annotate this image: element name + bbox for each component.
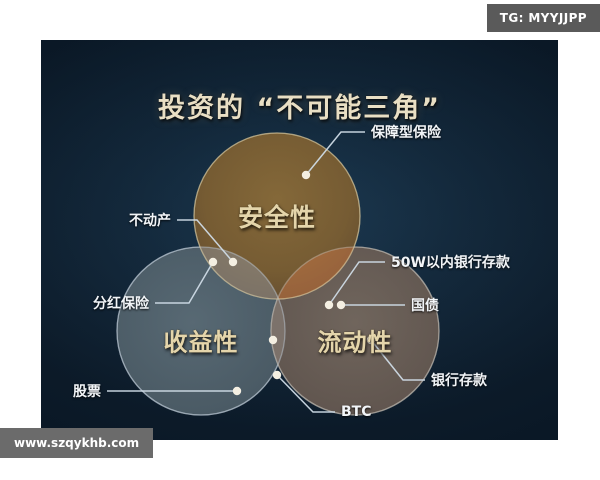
callout-label-participating-insurance: 分红保险 bbox=[93, 293, 149, 313]
slide-stage: 投资的 “不可能三角” bbox=[0, 0, 600, 480]
website-watermark-badge: www.szqykhb.com bbox=[0, 428, 153, 458]
zhihu-watermark: 知乎 @保险经纪木木晓德 bbox=[336, 440, 506, 441]
callout-label-protection-insurance: 保障型保险 bbox=[371, 122, 441, 142]
venn-label-safety: 安全性 bbox=[238, 198, 316, 234]
callout-label-btc: BTC bbox=[341, 404, 372, 420]
venn-label-liquidity: 流动性 bbox=[318, 323, 393, 358]
leader-dot-real-estate bbox=[229, 258, 237, 266]
leader-dot-participating-insurance bbox=[209, 258, 217, 266]
leader-dot-government-bond bbox=[337, 301, 345, 309]
venn-label-yield: 收益性 bbox=[164, 323, 239, 358]
leader-dot-btc bbox=[273, 371, 281, 379]
leader-dot-balanced-center bbox=[269, 336, 277, 344]
callout-label-bank-deposit-under50w: 50W以内银行存款 bbox=[391, 252, 510, 272]
callout-label-real-estate: 不动产 bbox=[129, 210, 171, 230]
callout-label-government-bond: 国债 bbox=[411, 295, 439, 315]
leader-dot-stock bbox=[233, 387, 241, 395]
presentation-panel: 投资的 “不可能三角” bbox=[41, 40, 558, 440]
leader-dot-protection-insurance bbox=[302, 171, 310, 179]
page-title: 投资的 “不可能三角” bbox=[41, 86, 558, 125]
callout-label-stock: 股票 bbox=[73, 381, 101, 401]
telegram-watermark-badge: TG: MYYJJPP bbox=[487, 4, 600, 32]
callout-label-bank-deposit: 银行存款 bbox=[431, 370, 487, 390]
leader-dot-bank-deposit-under50w bbox=[325, 301, 333, 309]
